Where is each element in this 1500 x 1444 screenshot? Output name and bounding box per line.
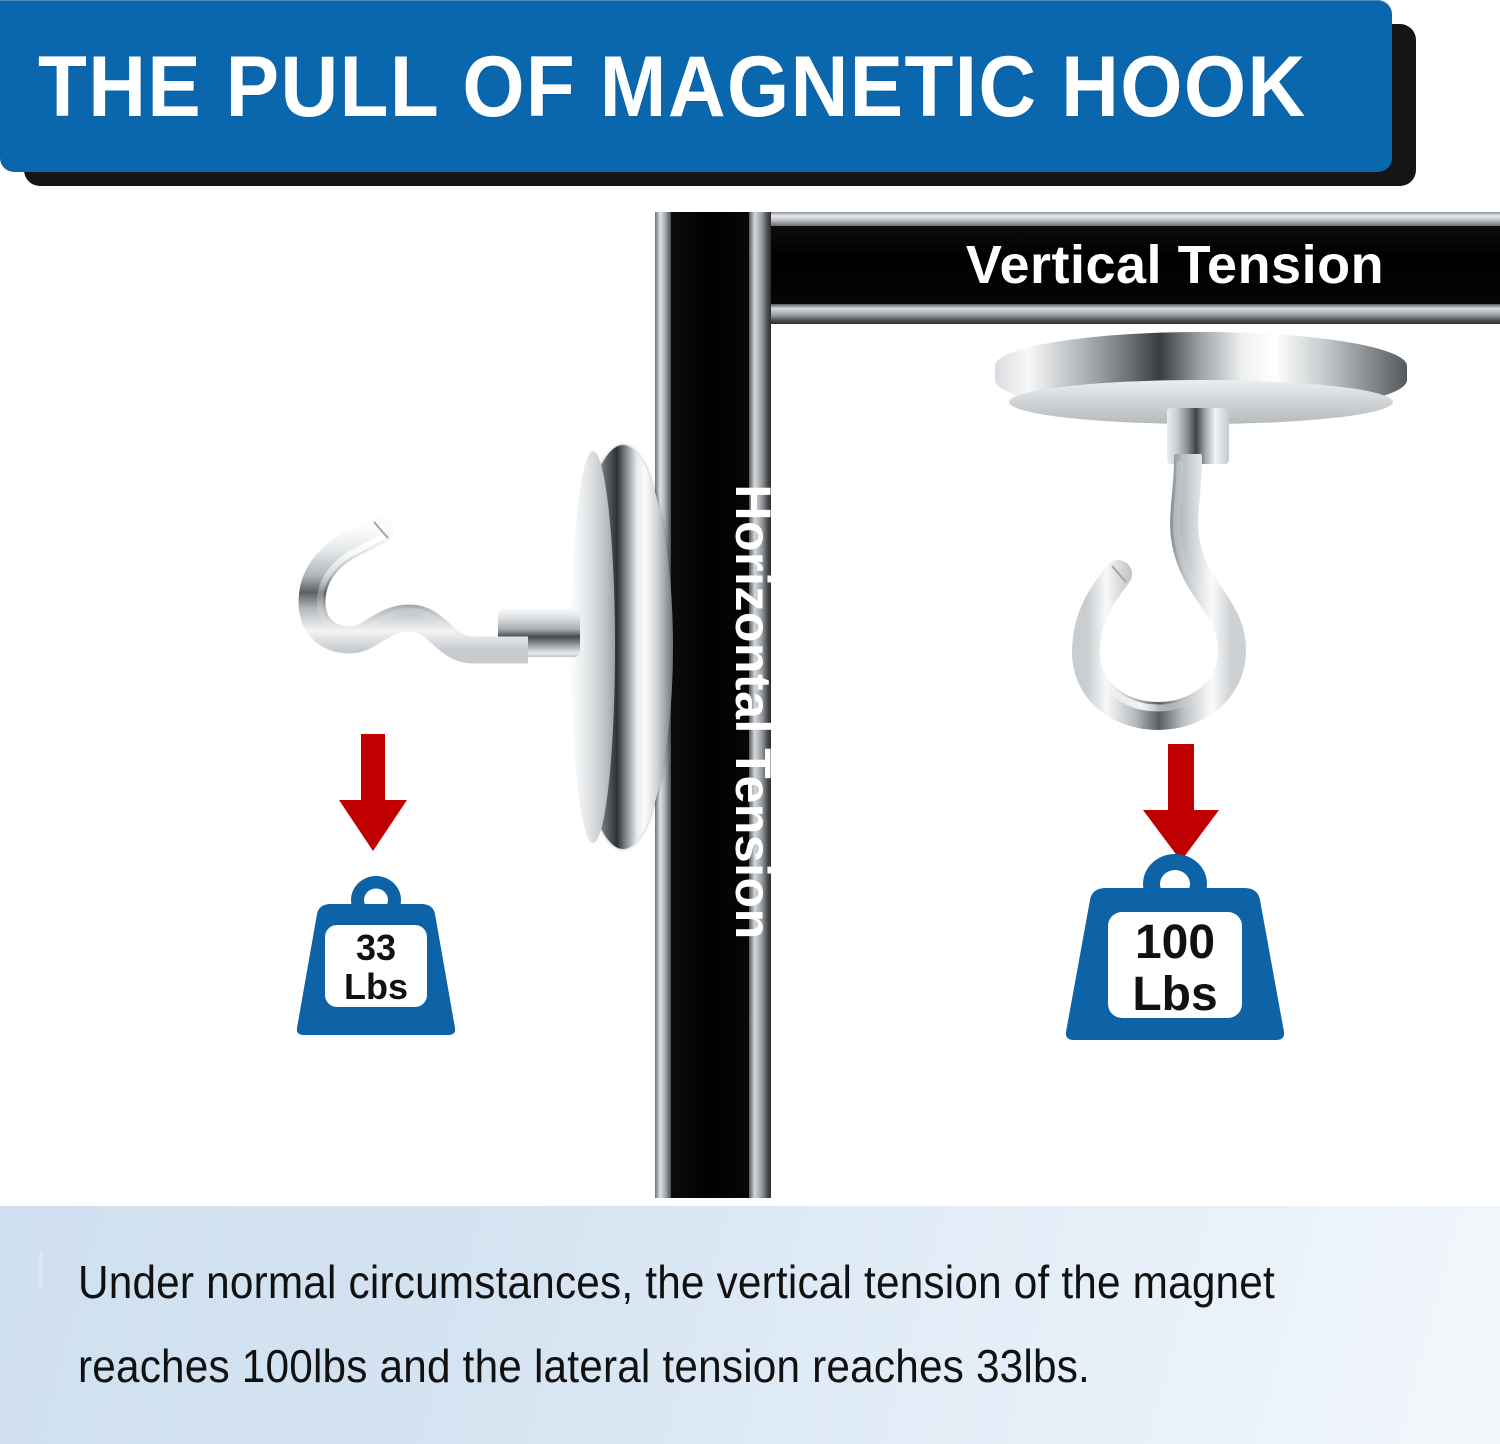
left-magnet-disc (573, 445, 673, 849)
left-down-arrow (338, 734, 408, 852)
ceiling-bar-top-edge (655, 212, 1500, 226)
magnet-ring-icon (20, 1249, 62, 1291)
infographic-page: THE PULL OF MAGNETIC HOOK Vertical Tensi… (0, 0, 1500, 1444)
vertical-tension-label: Vertical Tension (915, 232, 1435, 298)
left-weight-label: 33 Lbs (328, 928, 424, 1006)
right-weight-label: 100 Lbs (1108, 916, 1242, 1022)
left-hook (278, 490, 528, 690)
ceiling-bar: Vertical Tension (655, 212, 1500, 324)
right-weight-unit: Lbs (1132, 969, 1217, 1021)
right-hook (1000, 454, 1310, 734)
page-title: THE PULL OF MAGNETIC HOOK (38, 34, 1275, 144)
caption-text: Under normal circumstances, the vertical… (78, 1240, 1366, 1410)
horizontal-tension-label: Horizontal Tension (723, 432, 783, 992)
header-banner: THE PULL OF MAGNETIC HOOK (0, 0, 1392, 172)
left-weight-unit: Lbs (344, 967, 408, 1006)
left-weight-value: 33 (356, 928, 396, 967)
right-weight-value: 100 (1135, 917, 1215, 969)
diagram-stage: Vertical Tension Horizontal Tension (0, 186, 1500, 1202)
